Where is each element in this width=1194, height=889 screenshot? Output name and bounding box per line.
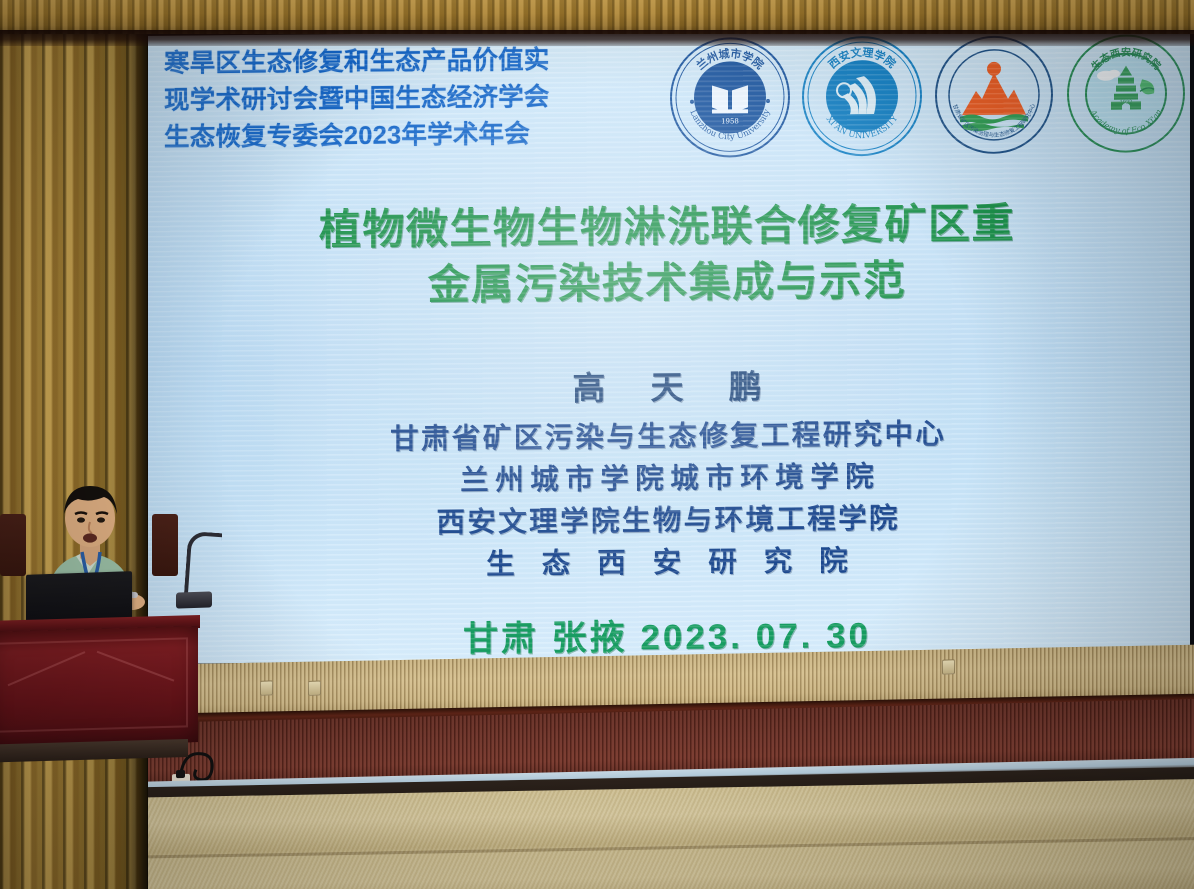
- lanzhou-city-university-logo: 1958 Lanzhou City University 兰州城市学院: [668, 35, 792, 160]
- wall-outlet-icon: [260, 680, 273, 695]
- slide-title-line-2: 金属污染技术集成与示范: [144, 250, 1190, 316]
- author-name: 高 天 鹏: [144, 356, 1190, 414]
- projection-screen-frame: 寒旱区生态修复和生态产品价值实 现学术研讨会暨中国生态经济学会 生态恢复专委会2…: [140, 31, 1194, 671]
- chair-back-left: [0, 514, 26, 576]
- organization-logo-row: 1958 Lanzhou City University 兰州城市学院: [668, 30, 1190, 160]
- wall-outlet-icon: [308, 680, 321, 695]
- conference-presentation-photo: 寒旱区生态修复和生态产品价值实 现学术研讨会暨中国生态经济学会 生态恢复专委会2…: [0, 0, 1194, 889]
- curtain-pelmet: [0, 0, 1194, 34]
- projection-screen: 寒旱区生态修复和生态产品价值实 现学术研讨会暨中国生态经济学会 生态恢复专委会2…: [144, 26, 1190, 664]
- conference-header-line-1: 寒旱区生态修复和生态产品价值实: [164, 41, 664, 83]
- microphone-base: [176, 591, 212, 608]
- microphone-gooseneck: [184, 531, 223, 599]
- podium-area: [0, 470, 240, 800]
- academy-of-eco-xian-logo: 1922 Academy of Eco Xi'an 生态西安研究院: [1064, 31, 1188, 156]
- lectern: [0, 618, 200, 758]
- svg-text:1958: 1958: [721, 117, 739, 125]
- affiliation-list: 甘肃省矿区污染与生态修复工程研究中心 兰州城市学院城市环境学院 西安文理学院生物…: [144, 411, 1190, 589]
- slide-title-line-1: 植物微生物生物淋洗联合修复矿区重: [144, 194, 1190, 260]
- lectern-diamond-inlay: [8, 646, 174, 719]
- svg-text:1922: 1922: [1120, 100, 1133, 106]
- conference-header-line-3: 生态恢复专委会2023年学术年会: [164, 115, 664, 157]
- affiliation-line-4: 生态西安研究院: [144, 537, 1190, 589]
- pelmet-shadow: [0, 30, 1194, 46]
- lectern-base: [0, 739, 188, 763]
- xian-university-logo: XI'AN UNIVERSITY 西安文理学院: [800, 34, 924, 159]
- slide-title: 植物微生物生物淋洗联合修复矿区重 金属污染技术集成与示范: [144, 194, 1190, 316]
- mining-pollution-research-center-logo: 甘肃省矿区污染治理与生态修复工程研究中心: [932, 32, 1056, 157]
- slide-content: 寒旱区生态修复和生态产品价值实 现学术研讨会暨中国生态经济学会 生态恢复专委会2…: [144, 26, 1190, 664]
- wall-outlet-icon: [942, 659, 955, 674]
- conference-header: 寒旱区生态修复和生态产品价值实 现学术研讨会暨中国生态经济学会 生态恢复专委会2…: [164, 41, 664, 157]
- conference-header-line-2: 现学术研讨会暨中国生态经济学会: [164, 78, 664, 120]
